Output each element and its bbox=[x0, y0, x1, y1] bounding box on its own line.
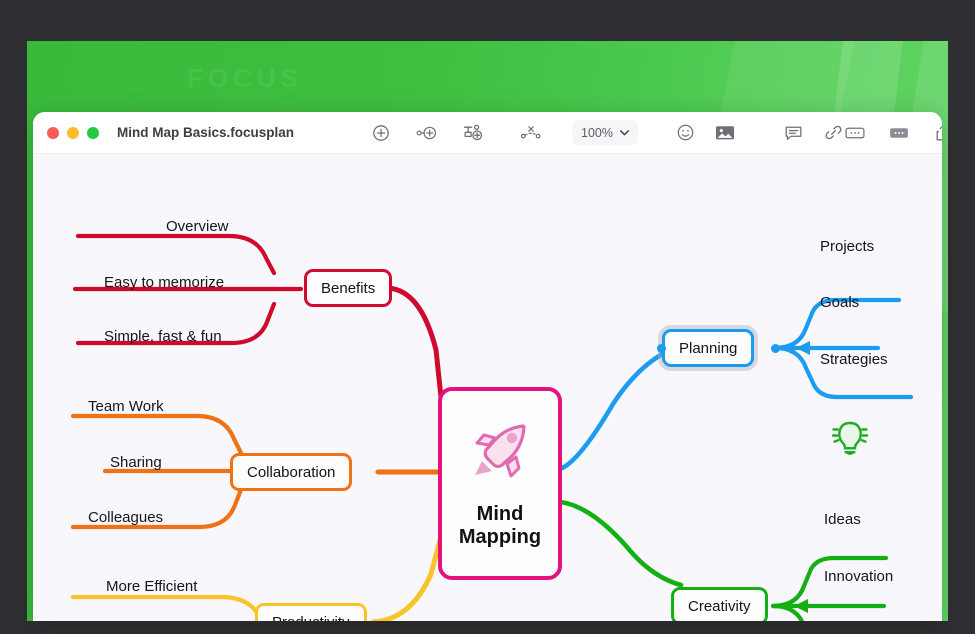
mindmap-center-node[interactable]: MindMapping bbox=[438, 387, 562, 580]
toolbar-group-annotate bbox=[782, 122, 844, 144]
node-label: Sharing bbox=[110, 454, 162, 471]
zoom-level-value: 100% bbox=[581, 126, 613, 140]
toolbar-group-insert bbox=[370, 122, 484, 144]
mindmap-leaf-innovation[interactable]: Innovation bbox=[824, 565, 893, 587]
mindmap-node-productivity[interactable]: Productivity bbox=[255, 603, 367, 621]
node-label: Goals bbox=[820, 294, 859, 311]
document-title: Mind Map Basics.focusplan bbox=[117, 125, 294, 140]
maximize-button[interactable] bbox=[87, 127, 99, 139]
node-label: Simple, fast & fun bbox=[104, 328, 222, 345]
wallpaper-logo-text: FOCUS bbox=[187, 63, 303, 94]
node-label: Productivity bbox=[272, 614, 350, 622]
mindmap-leaf-projects[interactable]: Projects bbox=[820, 235, 874, 257]
screen: FOCUS Mind Map Basics.focusplan bbox=[0, 0, 975, 634]
app-window: Mind Map Basics.focusplan bbox=[33, 112, 942, 621]
node-label: Collaboration bbox=[247, 464, 335, 481]
add-topic-icon[interactable] bbox=[370, 122, 392, 144]
close-button[interactable] bbox=[47, 127, 59, 139]
window-titlebar: Mind Map Basics.focusplan bbox=[33, 112, 942, 154]
mindmap-node-creativity[interactable]: Creativity bbox=[671, 587, 768, 621]
toolbar-group-relationship bbox=[520, 122, 542, 144]
zoom-level-dropdown[interactable]: 100% bbox=[572, 120, 638, 145]
mindmap-leaf-overview[interactable]: Overview bbox=[166, 215, 229, 237]
add-subtopic-icon[interactable] bbox=[416, 122, 438, 144]
node-label: Benefits bbox=[321, 280, 375, 297]
emoji-icon[interactable] bbox=[674, 122, 696, 144]
node-label: Creativity bbox=[688, 598, 751, 615]
image-icon[interactable] bbox=[714, 122, 736, 144]
mindmap-leaf-simple-fast-fun[interactable]: Simple, fast & fun bbox=[104, 325, 222, 347]
more-icon[interactable] bbox=[888, 122, 910, 144]
mindmap-leaf-sharing[interactable]: Sharing bbox=[110, 451, 162, 473]
mindmap-leaf-goals[interactable]: Goals bbox=[820, 291, 859, 313]
add-relationship-icon[interactable] bbox=[520, 122, 542, 144]
link-icon[interactable] bbox=[822, 122, 844, 144]
node-label: Easy to memorize bbox=[104, 274, 224, 291]
toolbar-group-right bbox=[844, 122, 942, 144]
node-label: Projects bbox=[820, 238, 874, 255]
comment-icon[interactable] bbox=[782, 122, 804, 144]
chevron-down-icon bbox=[620, 130, 629, 136]
minimize-button[interactable] bbox=[67, 127, 79, 139]
node-label: Overview bbox=[166, 218, 229, 235]
mindmap-leaf-team-work[interactable]: Team Work bbox=[88, 395, 164, 417]
mindmap-canvas[interactable]: MindMapping Benefits Overview Easy to me… bbox=[33, 154, 942, 621]
lightbulb-icon bbox=[825, 414, 875, 471]
mindmap-node-planning[interactable]: Planning bbox=[662, 329, 754, 367]
node-label: Strategies bbox=[820, 351, 888, 368]
share-icon[interactable] bbox=[932, 122, 942, 144]
mindmap-leaf-more-efficient[interactable]: More Efficient bbox=[106, 575, 197, 597]
mindmap-node-benefits[interactable]: Benefits bbox=[304, 269, 392, 307]
rocket-icon bbox=[462, 413, 538, 489]
node-label: Team Work bbox=[88, 398, 164, 415]
mindmap-leaf-ideas[interactable]: Ideas bbox=[824, 508, 861, 530]
node-label: Planning bbox=[679, 340, 737, 357]
node-label: Colleagues bbox=[88, 509, 163, 526]
mindmap-node-collaboration[interactable]: Collaboration bbox=[230, 453, 352, 491]
mindmap-leaf-colleagues[interactable]: Colleagues bbox=[88, 506, 163, 528]
node-label: Innovation bbox=[824, 568, 893, 585]
mindmap-center-label: MindMapping bbox=[459, 503, 541, 550]
toolbar-group-zoom: 100% bbox=[572, 120, 638, 145]
selection-handle-right[interactable] bbox=[771, 344, 780, 353]
node-label: More Efficient bbox=[106, 578, 197, 595]
mindmap-leaf-easy-to-memorize[interactable]: Easy to memorize bbox=[104, 271, 224, 293]
toolbar-group-media bbox=[674, 122, 736, 144]
node-label: Ideas bbox=[824, 511, 861, 528]
note-icon[interactable] bbox=[844, 122, 866, 144]
add-callout-icon[interactable] bbox=[462, 122, 484, 144]
mindmap-leaf-strategies[interactable]: Strategies bbox=[820, 348, 888, 370]
selection-handle-left[interactable] bbox=[657, 344, 666, 353]
traffic-lights[interactable] bbox=[47, 127, 99, 139]
